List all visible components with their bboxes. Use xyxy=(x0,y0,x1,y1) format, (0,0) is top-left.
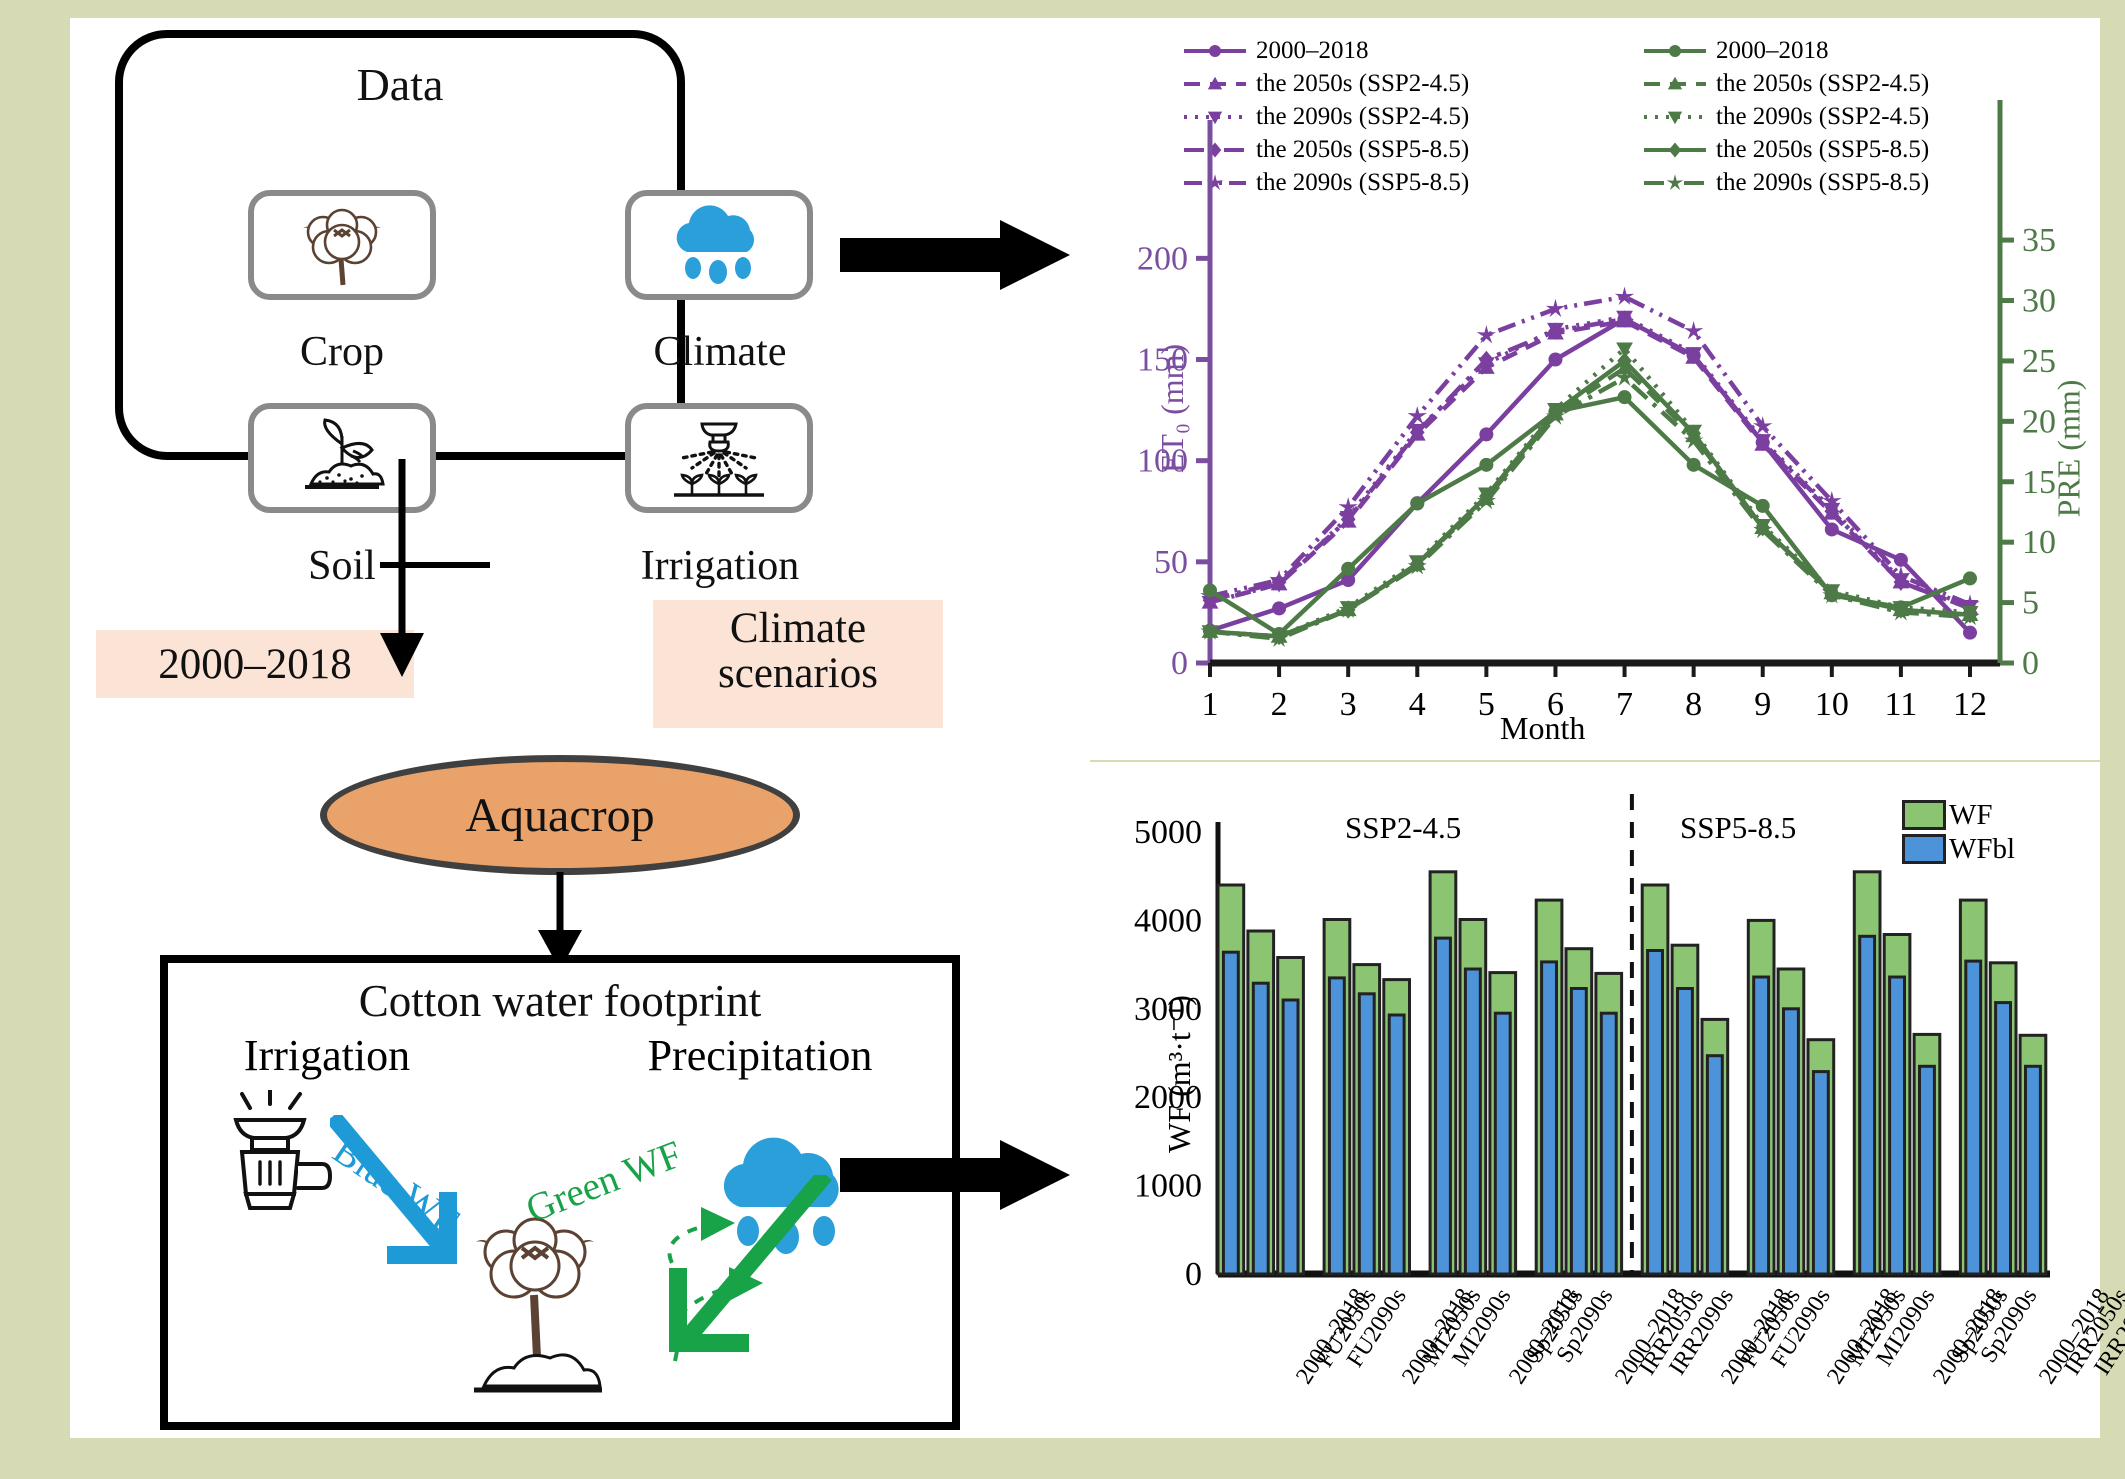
data-point xyxy=(1410,497,1424,511)
svg-text:5000: 5000 xyxy=(1134,814,1202,851)
wf-precipitation-label: Precipitation xyxy=(560,1030,960,1081)
arrow-to-bar-chart xyxy=(840,1130,1090,1220)
bar-wfbl xyxy=(1754,977,1769,1274)
svg-text:30: 30 xyxy=(2022,283,2056,320)
line-series-6 xyxy=(1210,368,1970,636)
card-label-crop: Crop xyxy=(227,328,457,376)
line-series-2 xyxy=(1210,317,1970,606)
bar-wfbl xyxy=(1648,951,1663,1275)
data-point xyxy=(1756,499,1770,513)
svg-text:8: 8 xyxy=(1685,686,1702,723)
bar-wfbl xyxy=(1966,961,1981,1274)
svg-text:150: 150 xyxy=(1137,342,1188,379)
bar-wfbl xyxy=(1890,977,1905,1274)
bar-wfbl xyxy=(1996,1003,2011,1274)
bar-wfbl xyxy=(1784,1009,1799,1274)
svg-text:12: 12 xyxy=(1953,686,1987,723)
svg-text:1: 1 xyxy=(1202,686,1219,723)
data-point xyxy=(1894,553,1908,567)
data-point xyxy=(1479,458,1493,472)
svg-text:200: 200 xyxy=(1137,240,1188,277)
wf-box-title: Cotton water footprint xyxy=(160,975,960,1027)
svg-text:15: 15 xyxy=(2022,464,2056,501)
card-crop[interactable] xyxy=(248,190,436,300)
bar-wfbl xyxy=(1329,978,1344,1274)
bar-wfbl xyxy=(1495,1013,1510,1274)
bar-wfbl xyxy=(1860,936,1875,1274)
bar-wfbl xyxy=(1223,952,1238,1274)
svg-text:0: 0 xyxy=(1185,1256,1202,1293)
line-series-0 xyxy=(1210,319,1970,633)
svg-text:2: 2 xyxy=(1271,686,1288,723)
bar-wfbl xyxy=(1678,989,1693,1275)
data-point xyxy=(1203,584,1217,598)
svg-text:35: 35 xyxy=(2022,222,2056,259)
bar-wfbl xyxy=(1283,1000,1298,1274)
bar-wfbl xyxy=(1389,1015,1404,1274)
card-irrigation[interactable] xyxy=(625,403,813,513)
svg-text:0: 0 xyxy=(2022,645,2039,682)
data-point xyxy=(1618,390,1632,404)
data-point xyxy=(1341,562,1355,576)
bar-wfbl xyxy=(1359,994,1374,1274)
svg-text:4: 4 xyxy=(1409,686,1426,723)
data-point xyxy=(1272,601,1286,615)
svg-text:100: 100 xyxy=(1137,443,1188,480)
bar-wfbl xyxy=(1601,1013,1616,1274)
data-box-title: Data xyxy=(115,58,685,111)
svg-text:1000: 1000 xyxy=(1134,1168,1202,1205)
bar-wfbl xyxy=(2026,1066,2041,1274)
data-point xyxy=(1548,353,1562,367)
data-point xyxy=(1963,571,1977,585)
line-series-4 xyxy=(1210,297,1970,605)
line-series-1 xyxy=(1210,321,1970,608)
bar-wfbl xyxy=(1436,938,1451,1274)
sprinkler-icon xyxy=(654,412,784,504)
bar-wfbl xyxy=(1465,969,1480,1274)
svg-text:6: 6 xyxy=(1547,686,1564,723)
card-label-climate: Climate xyxy=(605,328,835,376)
svg-text:0: 0 xyxy=(1171,645,1188,682)
aquacrop-node[interactable]: Aquacrop xyxy=(320,755,800,875)
arrow-to-line-chart xyxy=(840,210,1090,300)
card-climate[interactable] xyxy=(625,190,813,300)
bar-wfbl xyxy=(1707,1056,1722,1274)
svg-text:2000: 2000 xyxy=(1134,1079,1202,1116)
cotton-boll-icon xyxy=(287,202,397,288)
flow-connectors xyxy=(380,455,640,775)
svg-text:11: 11 xyxy=(1885,686,1918,723)
svg-text:7: 7 xyxy=(1616,686,1633,723)
svg-text:10: 10 xyxy=(1815,686,1849,723)
line-chart-plot: 0501001502000510152025303512345678910111… xyxy=(1090,18,2100,760)
svg-text:20: 20 xyxy=(2022,403,2056,440)
wf-irrigation-label: Irrigation xyxy=(162,1030,492,1081)
data-point xyxy=(1963,626,1977,640)
svg-text:5: 5 xyxy=(1478,686,1495,723)
bar-wfbl xyxy=(1813,1072,1828,1274)
svg-text:3: 3 xyxy=(1340,686,1357,723)
tag-climate-scenarios: Climate scenarios xyxy=(653,600,943,728)
svg-text:10: 10 xyxy=(2022,524,2056,561)
data-point xyxy=(1687,458,1701,472)
tag-historical-period: 2000–2018 xyxy=(96,630,414,698)
svg-text:9: 9 xyxy=(1754,686,1771,723)
svg-text:50: 50 xyxy=(1154,544,1188,581)
bar-wfbl xyxy=(1920,1066,1935,1274)
rain-cloud-icon xyxy=(661,202,777,288)
bar-wfbl xyxy=(1542,962,1557,1274)
data-point xyxy=(1477,325,1496,343)
bar-wfbl xyxy=(1571,989,1586,1275)
svg-text:5: 5 xyxy=(2022,585,2039,622)
data-point xyxy=(1479,427,1493,441)
bar-wfbl xyxy=(1253,983,1268,1274)
data-point xyxy=(1546,299,1565,317)
svg-text:4000: 4000 xyxy=(1134,902,1202,939)
svg-text:25: 25 xyxy=(2022,343,2056,380)
data-point xyxy=(1684,321,1703,339)
line-series-3 xyxy=(1210,319,1970,608)
data-point xyxy=(1825,522,1839,536)
bar-chart-plot: 010002000300040005000 xyxy=(1090,762,2100,1438)
svg-text:3000: 3000 xyxy=(1134,991,1202,1028)
